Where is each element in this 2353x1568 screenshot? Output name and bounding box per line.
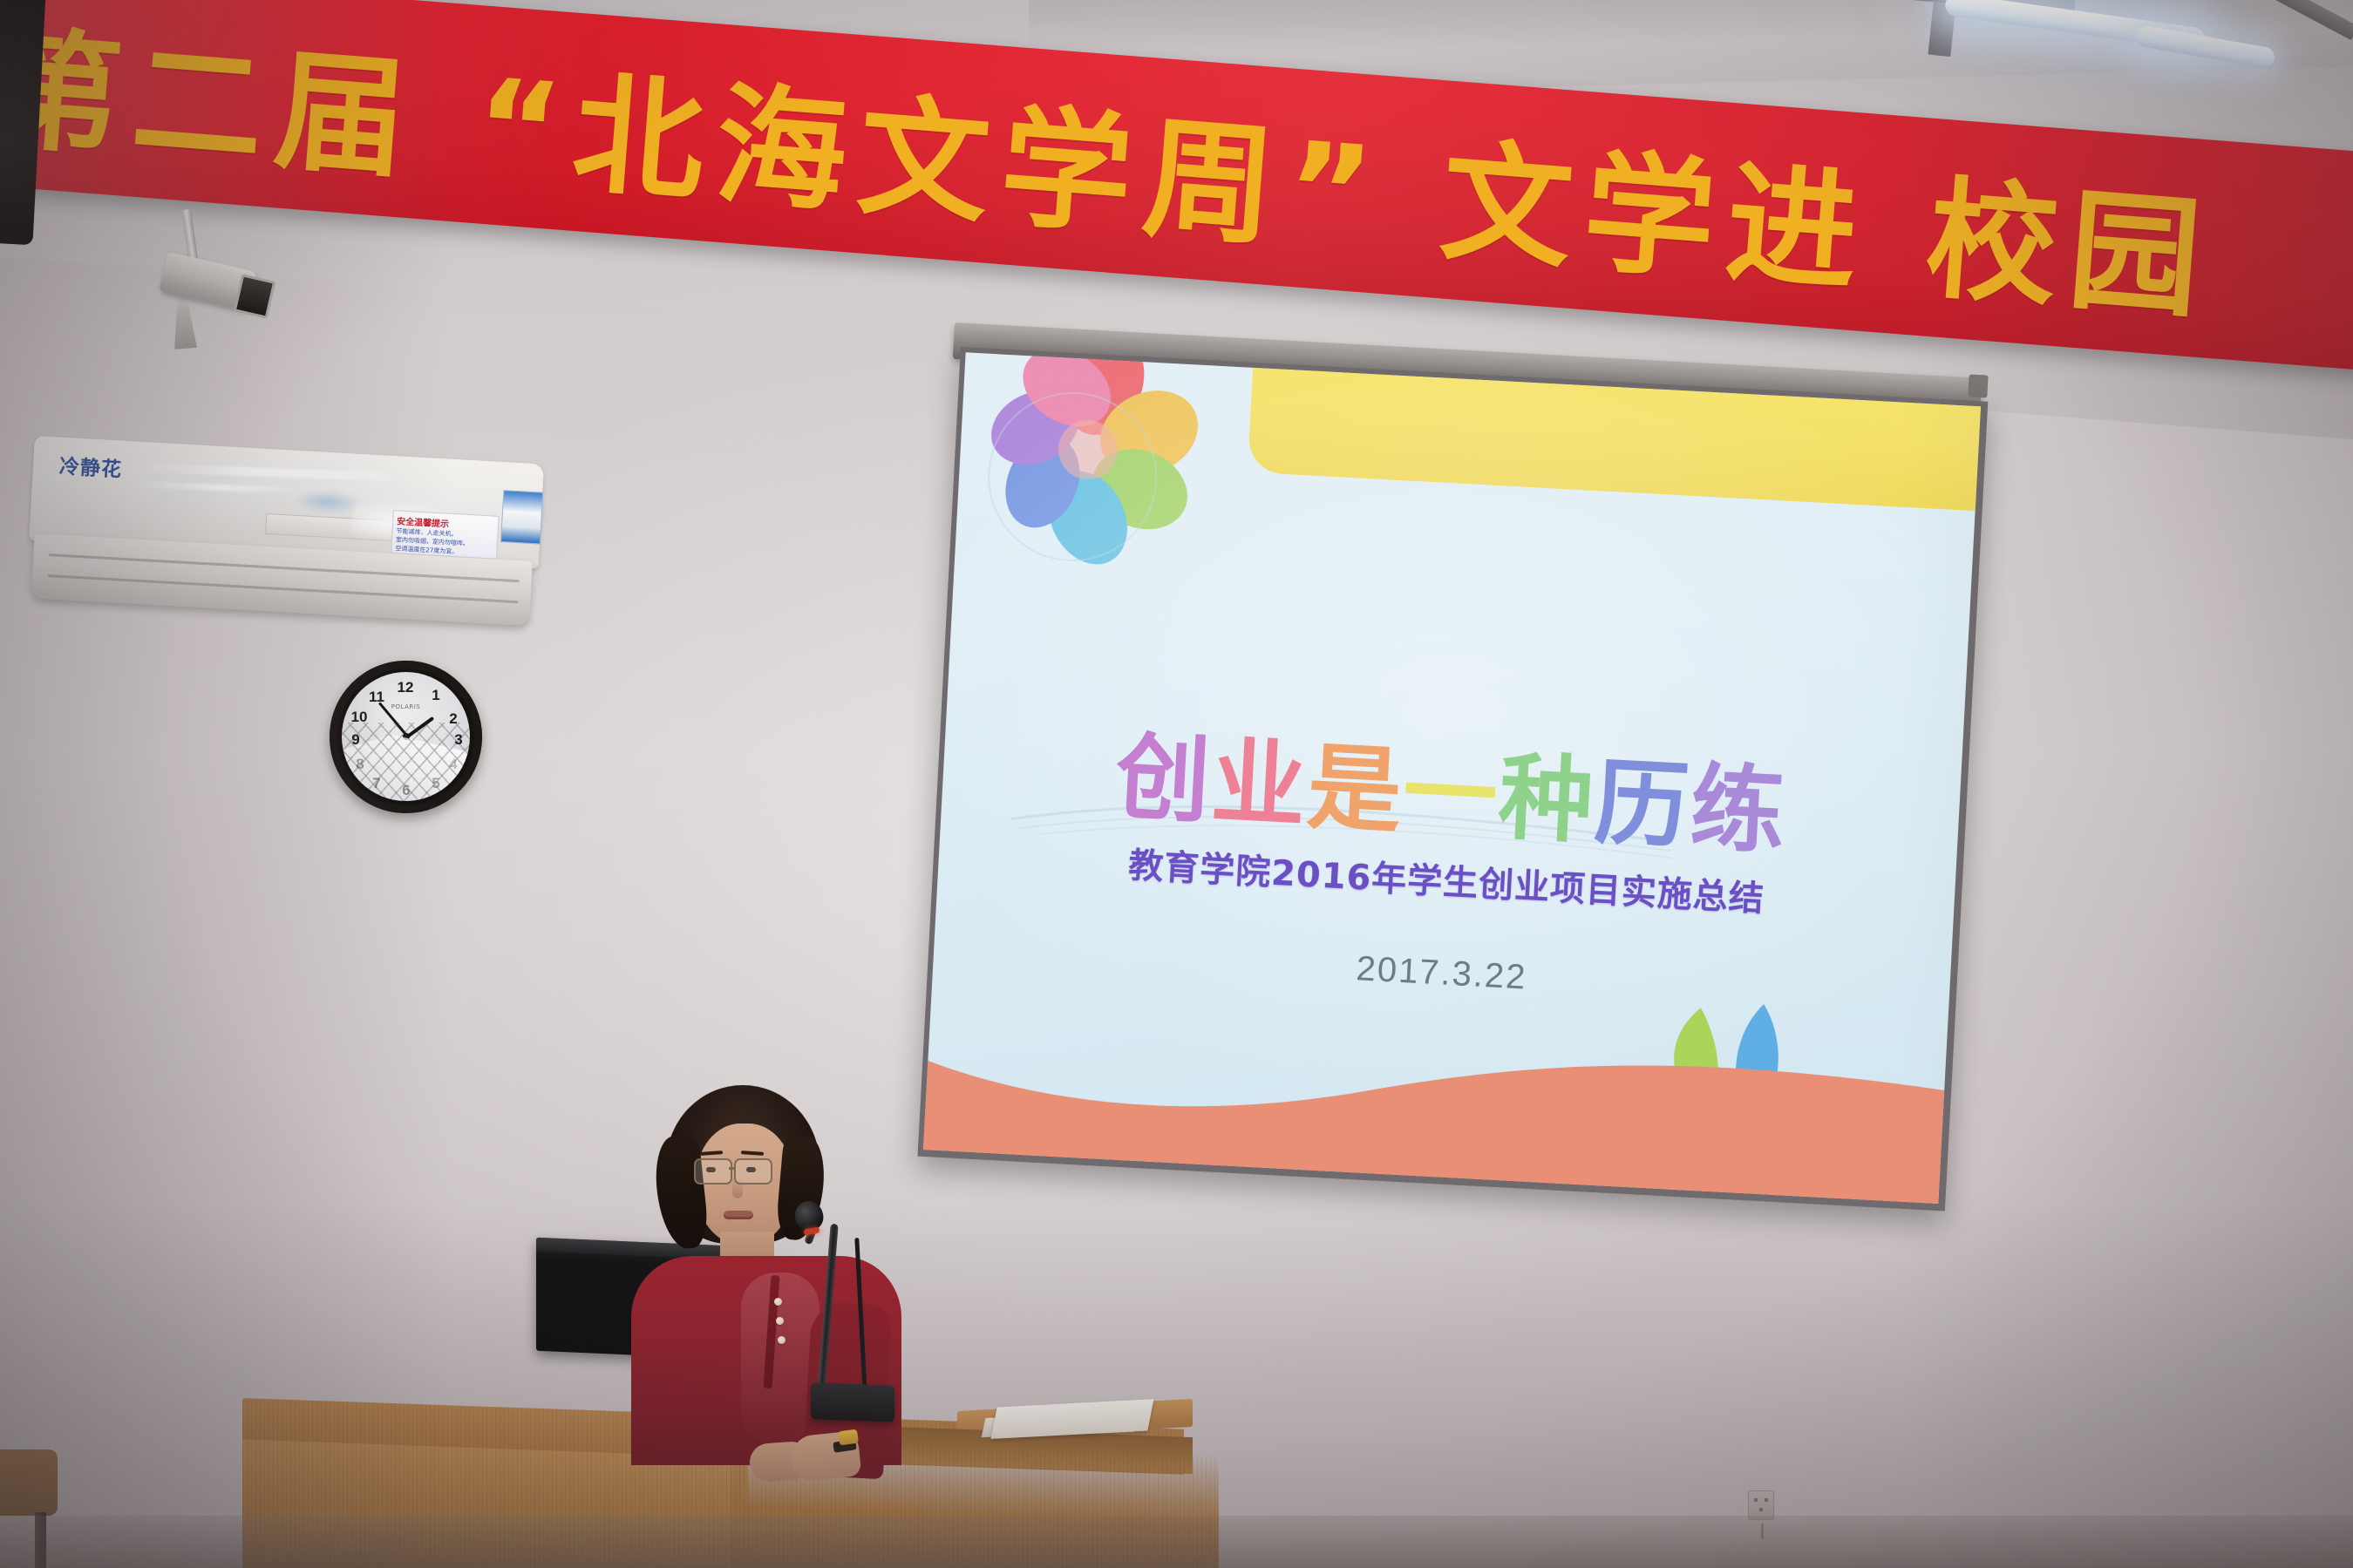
projection-screen: 创业是一种历练 教育学院2016年学生创业项目实施总结 2017.3.22 [918, 347, 1989, 1211]
title-char: 创 [1112, 701, 1215, 842]
glasses-icon [694, 1158, 732, 1184]
pinwheel-flower-icon [962, 352, 1210, 606]
title-char: 业 [1208, 706, 1311, 847]
floor-band [0, 1516, 2353, 1568]
presentation-slide: 创业是一种历练 教育学院2016年学生创业项目实施总结 2017.3.22 [923, 352, 1981, 1204]
title-char: 一 [1400, 716, 1503, 858]
title-char: 练 [1687, 731, 1790, 872]
presenter-nose [732, 1179, 743, 1198]
glasses-bridge [729, 1167, 736, 1170]
title-char: 历 [1592, 727, 1695, 868]
wall-shading-bottom [0, 1202, 2353, 1568]
title-char: 是 [1304, 711, 1407, 852]
ac-energy-label [500, 490, 543, 544]
lecture-hall-photo: 第二届 “北海文学周” 文学进 校园 冷静花 安全温馨提示 节能减排，人走关机。… [0, 0, 2353, 1568]
flower-svg [962, 352, 1210, 606]
title-char: 种 [1496, 722, 1599, 863]
